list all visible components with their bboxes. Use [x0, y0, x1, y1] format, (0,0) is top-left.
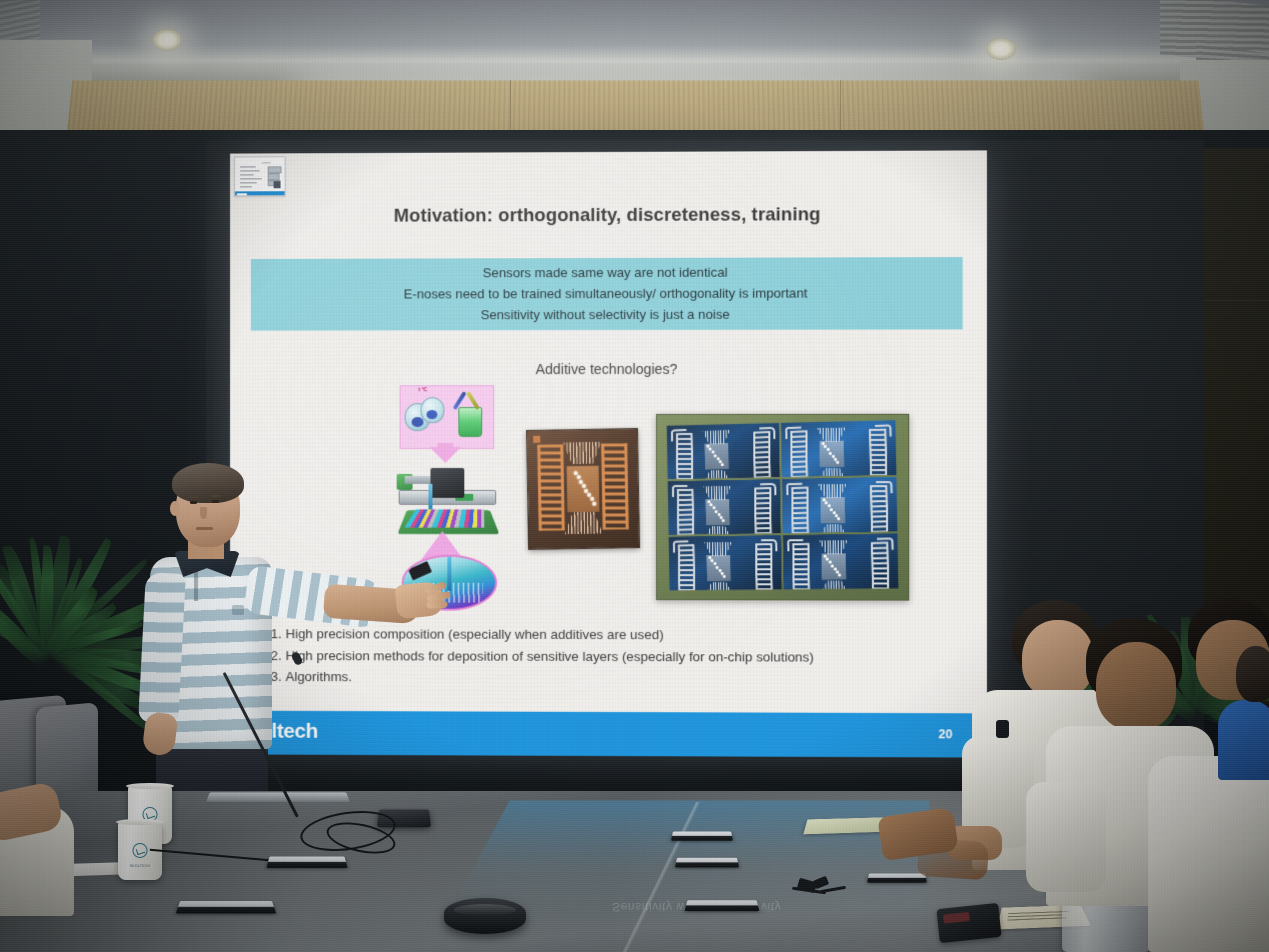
flask-icon-2 [421, 397, 445, 423]
conference-room-scene: Motivation: orthogonality, discreteness,… [0, 0, 1269, 952]
serpentine-heater-right [601, 443, 628, 529]
outline-slide-thumbnail-icon [234, 156, 285, 196]
cup-logo-icon [133, 843, 148, 858]
keys-and-earbuds[interactable] [790, 876, 854, 902]
sensor-die-array-photo [656, 414, 909, 601]
laptop[interactable] [206, 792, 350, 801]
cup-label: SKOLTECH [118, 864, 162, 868]
beaker-icon [458, 407, 482, 437]
smartphone[interactable] [936, 903, 1001, 943]
serpentine-heater-left [537, 444, 564, 530]
sensor-die [668, 479, 781, 535]
spotlight-right-icon [986, 38, 1016, 60]
callout-line-3: Sensitivity without selectivity is just … [481, 305, 730, 326]
sensor-die [782, 477, 897, 533]
nameplate-2 [176, 901, 277, 914]
slide-title: Motivation: orthogonality, discreteness,… [230, 203, 987, 228]
slide-question-text: Additive technologies? [230, 362, 987, 379]
nameplate-4 [675, 858, 739, 868]
temperature-label: t °C [419, 387, 428, 393]
slide-callout-box: Sensors made same way are not identical … [251, 257, 963, 331]
thumbnail-image-icon [274, 181, 281, 188]
arrow-down-icon [429, 447, 461, 463]
callout-line-1: Sensors made same way are not identical [483, 263, 728, 284]
presenter [128, 465, 428, 825]
callout-line-2: E-noses need to be trained simultaneousl… [404, 283, 808, 304]
nameplate-1 [266, 856, 347, 867]
sensor-die [783, 534, 898, 590]
spotlight-left-icon [152, 29, 182, 51]
slide-page-number: 20 [939, 727, 953, 741]
conference-speakerphone[interactable] [444, 898, 526, 934]
deposited-droplets [572, 470, 599, 508]
nameplate-6 [867, 874, 927, 883]
fanout-bottom [564, 512, 602, 535]
nameplate-5 [685, 900, 760, 911]
fanout-top [563, 442, 601, 465]
sensor-die [781, 420, 896, 477]
nameplate-3 [671, 832, 733, 841]
sensor-chip-photo [526, 428, 640, 550]
sensor-die [669, 535, 782, 590]
sensor-die [667, 423, 780, 479]
